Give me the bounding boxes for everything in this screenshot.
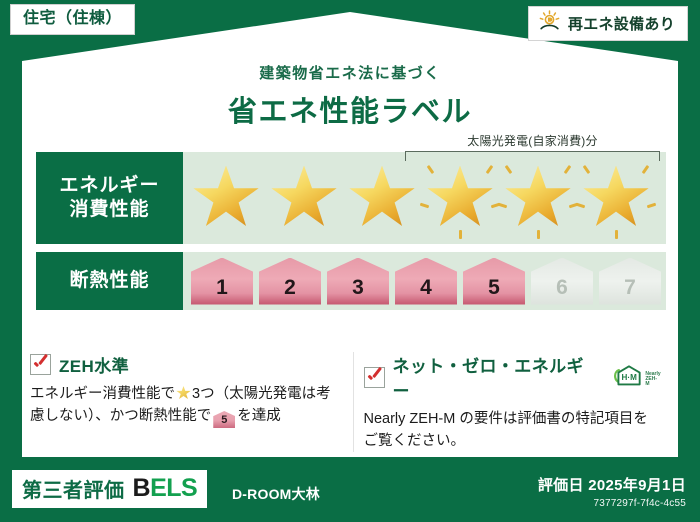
star-slot	[343, 155, 421, 241]
insulation-grade-badge: 2	[259, 258, 321, 305]
zeh-m-house-icon: H·M	[610, 364, 644, 391]
bels-logo: BELS	[133, 474, 198, 503]
bels-certification-mark: 第三者評価 BELS	[12, 470, 207, 508]
insulation-grade-badge: 4	[395, 258, 457, 305]
dwelling-type-tag: 住宅（住棟）	[10, 4, 135, 35]
net-zero-energy-block: ネット・ゼロ・エネルギー H·M Nearly ZEH-M Nearly ZEH…	[353, 352, 676, 452]
renewable-equipment-badge: 再エネ設備あり	[528, 6, 688, 41]
zeh-m-logo-caption: Nearly ZEH-M	[645, 372, 661, 388]
energy-performance-label: 住宅（住棟） 再エネ設備あり 建築物省エネ法に基づく 省エネ性能ラベル	[0, 0, 700, 522]
zeh-heading: ZEH水準	[30, 352, 339, 377]
energy-performance-row: エネルギー 消費性能 太陽光発電(自家消費)分	[36, 152, 666, 244]
star-slot	[187, 155, 265, 241]
zeh-text-a: エネルギー消費性能で	[30, 386, 175, 402]
insulation-grade-badge: 3	[327, 258, 389, 305]
star-icon	[426, 166, 494, 231]
insulation-grade-value: 5	[488, 276, 500, 300]
insulation-grade-value: 2	[284, 276, 296, 300]
insulation-grade-inline-badge: 5	[213, 411, 235, 428]
bels-logo-b: B	[133, 474, 151, 502]
insulation-grade-badge-inactive: 6	[531, 258, 593, 305]
star-slot-solar	[499, 155, 577, 241]
insulation-grade-value: 7	[624, 276, 636, 300]
energy-stars-band: 太陽光発電(自家消費)分	[183, 152, 666, 244]
nzeb-description: Nearly ZEH-M の要件は評価書の特記項目をご覧ください。	[364, 408, 662, 452]
renewable-badge-label: 再エネ設備あり	[568, 13, 675, 34]
zeh-m-logo-text: H·M	[621, 372, 637, 381]
solar-annotation-text: 太陽光発電(自家消費)分	[405, 132, 660, 149]
checkmark-icon	[30, 354, 51, 375]
star-icon	[192, 166, 260, 231]
footer-evaluation-info: 評価日 2025年9月1日 7377297f-7f4c-4c55	[538, 474, 686, 509]
page-title: 省エネ性能ラベル	[0, 88, 700, 130]
info-section: ZEH水準 エネルギー消費性能で3つ（太陽光発電は考慮しない）、かつ断熱性能で5…	[30, 352, 675, 452]
label-footer: 第三者評価 BELS D-ROOM大林 評価日 2025年9月1日 737729…	[0, 462, 700, 522]
zeh-title: ZEH水準	[59, 352, 129, 377]
sun-solar-icon	[538, 10, 561, 37]
star-icon	[270, 166, 338, 231]
star-slot	[265, 155, 343, 241]
bels-logo-els: ELS	[150, 474, 197, 502]
bels-jp-text: 第三者評価	[22, 474, 125, 503]
energy-performance-label: エネルギー 消費性能	[36, 152, 183, 244]
insulation-grade-badge: 5	[463, 258, 525, 305]
title-subtitle: 建築物省エネ法に基づく	[0, 62, 700, 83]
checkmark-icon	[364, 367, 385, 388]
certificate-id: 7377297f-7f4c-4c55	[538, 498, 686, 509]
star-icon	[504, 166, 572, 231]
insulation-grade-badge: 1	[191, 258, 253, 305]
insulation-grade-badge-inactive: 7	[599, 258, 661, 305]
zeh-m-logo: H·M Nearly ZEH-M	[610, 364, 661, 391]
insulation-grades-band: 1 2 3 4 5 6 7	[183, 252, 666, 310]
star-slot-solar	[577, 155, 655, 241]
insulation-grade-value: 6	[556, 276, 568, 300]
insulation-grade-value: 4	[420, 276, 432, 300]
star-icon	[176, 386, 191, 400]
energy-label-line2: 消費性能	[69, 198, 149, 222]
zeh-text-c: を達成	[237, 408, 281, 424]
nzeb-title: ネット・ゼロ・エネルギー	[393, 352, 598, 402]
insulation-performance-row: 断熱性能 1 2 3 4 5 6 7	[36, 252, 666, 310]
insulation-grade-value: 1	[216, 276, 228, 300]
zeh-m-caption-line2: ZEH-M	[645, 376, 657, 387]
star-icon	[582, 166, 650, 231]
zeh-standard-block: ZEH水準 エネルギー消費性能で3つ（太陽光発電は考慮しない）、かつ断熱性能で5…	[30, 352, 353, 452]
evaluation-date-value: 2025年9月1日	[588, 477, 686, 494]
performance-rows: エネルギー 消費性能 太陽光発電(自家消費)分	[36, 152, 666, 318]
evaluation-date: 評価日 2025年9月1日	[538, 474, 686, 495]
project-name: D-ROOM大林	[232, 484, 320, 504]
nzeb-heading: ネット・ゼロ・エネルギー H·M Nearly ZEH-M	[364, 352, 662, 402]
insulation-grade-inline-value: 5	[221, 415, 227, 426]
insulation-performance-label: 断熱性能	[36, 252, 183, 310]
zeh-description: エネルギー消費性能で3つ（太陽光発電は考慮しない）、かつ断熱性能で5を達成	[30, 383, 339, 428]
label-title-block: 建築物省エネ法に基づく 省エネ性能ラベル	[0, 62, 700, 130]
insulation-grade-value: 3	[352, 276, 364, 300]
star-icon	[348, 166, 416, 231]
star-slot-solar	[421, 155, 499, 241]
insulation-label-text: 断熱性能	[69, 269, 149, 293]
evaluation-date-label: 評価日	[538, 477, 584, 494]
energy-label-line1: エネルギー	[59, 174, 159, 198]
